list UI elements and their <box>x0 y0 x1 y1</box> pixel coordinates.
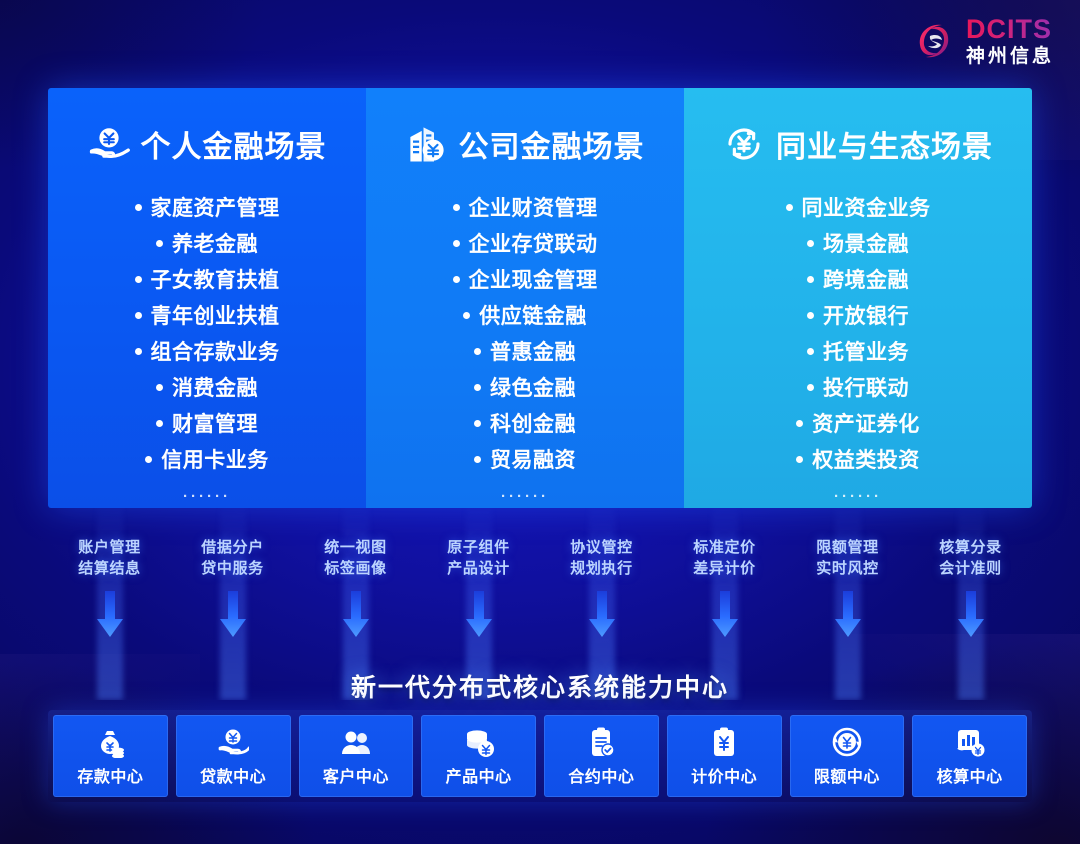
bullet-dot-icon <box>807 312 814 319</box>
bullet-dot-icon <box>807 276 814 283</box>
panel-list-item: 科创金融 <box>474 408 576 438</box>
panel-list-item: 托管业务 <box>807 336 909 366</box>
panel-list-item-label: 普惠金融 <box>490 336 576 366</box>
scenario-panels: 个人金融场景 家庭资产管理养老金融子女教育扶植青年创业扶植组合存款业务消费金融财… <box>48 88 1032 508</box>
panel-list-item-label: 养老金融 <box>172 228 258 258</box>
bullet-dot-icon <box>453 204 460 211</box>
capability-label-line2: 产品设计 <box>447 560 509 577</box>
capability-label-line2: 贷中服务 <box>201 560 263 577</box>
panel-list-item-label: 绿色金融 <box>490 372 576 402</box>
hand-coin-icon <box>217 726 249 758</box>
panel-ellipsis: ······ <box>183 488 231 505</box>
bullet-dot-icon <box>156 420 163 427</box>
capability-label-line2: 结算结息 <box>78 560 140 577</box>
capability-column: 限额管理 实时风控 <box>786 538 909 668</box>
capability-label-line2: 实时风控 <box>816 560 878 577</box>
bullet-dot-icon <box>474 384 481 391</box>
bullet-dot-icon <box>463 312 470 319</box>
bullet-dot-icon <box>807 240 814 247</box>
panel-list-item-label: 场景金融 <box>823 228 909 258</box>
center-card[interactable]: 限额中心 <box>790 715 905 797</box>
capability-label-line1: 核算分录 <box>939 539 1001 556</box>
center-card[interactable]: 合约中心 <box>544 715 659 797</box>
bullet-dot-icon <box>786 204 793 211</box>
center-card[interactable]: 核算中心 <box>912 715 1027 797</box>
panel-list-item: 消费金融 <box>156 372 258 402</box>
brand-logo: DCITS 神州信息 <box>912 16 1054 66</box>
panel-list-item: 绿色金融 <box>474 372 576 402</box>
panel-title: 公司金融场景 <box>459 122 645 166</box>
capability-column: 原子组件 产品设计 <box>417 538 540 668</box>
arrow-down-icon <box>95 591 125 639</box>
panel-list-item-label: 青年创业扶植 <box>151 300 280 330</box>
center-card[interactable]: 贷款中心 <box>176 715 291 797</box>
capability-label: 协议管控 规划执行 <box>570 538 632 579</box>
bullet-dot-icon <box>807 348 814 355</box>
capability-label-line1: 限额管理 <box>816 539 878 556</box>
panel-interbank-ecosystem[interactable]: 同业与生态场景 同业资金业务场景金融跨境金融开放银行托管业务投行联动资产证券化权… <box>684 88 1032 508</box>
dcits-swirl-icon <box>912 19 956 63</box>
panel-list-item: 开放银行 <box>807 300 909 330</box>
panel-list-item: 养老金融 <box>156 228 258 258</box>
panel-list-item-label: 企业现金管理 <box>469 264 598 294</box>
panel-item-list: 企业财资管理企业存贷联动企业现金管理供应链金融普惠金融绿色金融科创金融贸易融资 <box>453 192 598 474</box>
panel-list-item-label: 信用卡业务 <box>161 444 269 474</box>
yuan-exchange-circle-icon <box>723 123 765 165</box>
panel-item-list: 家庭资产管理养老金融子女教育扶植青年创业扶植组合存款业务消费金融财富管理信用卡业… <box>135 192 280 474</box>
center-card[interactable]: 客户中心 <box>299 715 414 797</box>
panel-list-item-label: 同业资金业务 <box>802 192 931 222</box>
capability-label-line2: 差异计价 <box>693 560 755 577</box>
center-card[interactable]: 计价中心 <box>667 715 782 797</box>
panel-list-item: 供应链金融 <box>463 300 587 330</box>
center-card-label: 合约中心 <box>568 763 634 787</box>
panel-header: 个人金融场景 <box>88 122 327 166</box>
capability-label: 限额管理 实时风控 <box>816 538 878 579</box>
bullet-dot-icon <box>145 456 152 463</box>
core-system-title: 新一代分布式核心系统能力中心 <box>0 668 1080 704</box>
building-yuan-icon <box>406 123 448 165</box>
panel-list-item-label: 投行联动 <box>823 372 909 402</box>
panel-list-item: 同业资金业务 <box>786 192 931 222</box>
clipboard-yuan-icon <box>708 726 740 758</box>
panel-list-item-label: 家庭资产管理 <box>151 192 280 222</box>
capability-label-line2: 规划执行 <box>570 560 632 577</box>
panel-list-item-label: 资产证券化 <box>812 408 920 438</box>
bullet-dot-icon <box>135 276 142 283</box>
capability-label: 原子组件 产品设计 <box>447 538 509 579</box>
capability-label-line1: 协议管控 <box>570 539 632 556</box>
bullet-dot-icon <box>796 456 803 463</box>
panel-list-item: 投行联动 <box>807 372 909 402</box>
center-card-label: 贷款中心 <box>200 763 266 787</box>
core-center-cards: 存款中心 贷款中心 客户中心 产品中心 合约中心 计价中心 限额中心 核算中心 <box>48 710 1032 802</box>
bullet-dot-icon <box>453 276 460 283</box>
panel-header: 公司金融场景 <box>406 122 645 166</box>
panel-list-item-label: 贸易融资 <box>490 444 576 474</box>
panel-list-item: 贸易融资 <box>474 444 576 474</box>
panel-list-item: 企业财资管理 <box>453 192 598 222</box>
panel-list-item: 青年创业扶植 <box>135 300 280 330</box>
panel-list-item-label: 子女教育扶植 <box>151 264 280 294</box>
panel-list-item-label: 开放银行 <box>823 300 909 330</box>
center-card-label: 客户中心 <box>323 763 389 787</box>
panel-corporate-finance[interactable]: 公司金融场景 企业财资管理企业存贷联动企业现金管理供应链金融普惠金融绿色金融科创… <box>366 88 684 508</box>
arrow-down-icon <box>710 591 740 639</box>
panel-list-item: 跨境金融 <box>807 264 909 294</box>
capability-label: 借据分户 贷中服务 <box>201 538 263 579</box>
panel-list-item-label: 科创金融 <box>490 408 576 438</box>
bullet-dot-icon <box>474 456 481 463</box>
capability-label-line1: 借据分户 <box>201 539 263 556</box>
panel-list-item-label: 供应链金融 <box>479 300 587 330</box>
panel-list-item: 信用卡业务 <box>145 444 269 474</box>
capability-column: 标准定价 差异计价 <box>663 538 786 668</box>
capability-column: 核算分录 会计准则 <box>909 538 1032 668</box>
center-card-label: 核算中心 <box>937 763 1003 787</box>
capability-label: 账户管理 结算结息 <box>78 538 140 579</box>
panel-list-item-label: 跨境金融 <box>823 264 909 294</box>
capability-row: 账户管理 结算结息 借据分户 贷中服务 统一视图 标签画像 原子组件 产品设计 … <box>48 538 1032 668</box>
panel-list-item: 企业现金管理 <box>453 264 598 294</box>
arrow-down-icon <box>464 591 494 639</box>
panel-list-item: 场景金融 <box>807 228 909 258</box>
center-card[interactable]: 产品中心 <box>421 715 536 797</box>
capability-label-line1: 原子组件 <box>447 539 509 556</box>
arrow-down-icon <box>218 591 248 639</box>
capability-label: 统一视图 标签画像 <box>324 538 386 579</box>
bullet-dot-icon <box>796 420 803 427</box>
panel-list-item: 子女教育扶植 <box>135 264 280 294</box>
capability-label-line2: 标签画像 <box>324 560 386 577</box>
arrow-down-icon <box>956 591 986 639</box>
bullet-dot-icon <box>135 312 142 319</box>
bullet-dot-icon <box>807 384 814 391</box>
bullet-dot-icon <box>453 240 460 247</box>
money-bag-coins-icon <box>94 726 126 758</box>
capability-label-line1: 统一视图 <box>324 539 386 556</box>
bullet-dot-icon <box>156 384 163 391</box>
arrow-down-icon <box>833 591 863 639</box>
capability-column: 借据分户 贷中服务 <box>171 538 294 668</box>
center-card-label: 限额中心 <box>814 763 880 787</box>
panel-title: 同业与生态场景 <box>776 122 993 166</box>
bullet-dot-icon <box>156 240 163 247</box>
panel-list-item-label: 组合存款业务 <box>151 336 280 366</box>
yuan-circle-arrows-icon <box>831 726 863 758</box>
panel-list-item-label: 权益类投资 <box>812 444 920 474</box>
panel-list-item: 资产证券化 <box>796 408 920 438</box>
clipboard-check-icon <box>585 726 617 758</box>
center-card-label: 存款中心 <box>77 763 143 787</box>
center-card-label: 产品中心 <box>446 763 512 787</box>
hand-holding-yuan-icon <box>88 123 130 165</box>
logo-text-cn: 神州信息 <box>966 47 1054 66</box>
logo-text-en: DCITS <box>966 16 1054 43</box>
panel-header: 同业与生态场景 <box>723 122 993 166</box>
users-group-icon <box>340 726 372 758</box>
panel-list-item: 企业存贷联动 <box>453 228 598 258</box>
capability-column: 协议管控 规划执行 <box>540 538 663 668</box>
panel-list-item: 组合存款业务 <box>135 336 280 366</box>
panel-list-item: 权益类投资 <box>796 444 920 474</box>
capability-label: 标准定价 差异计价 <box>693 538 755 579</box>
capability-label-line1: 标准定价 <box>693 539 755 556</box>
panel-list-item-label: 托管业务 <box>823 336 909 366</box>
panel-title: 个人金融场景 <box>141 122 327 166</box>
center-card[interactable]: 存款中心 <box>53 715 168 797</box>
panel-list-item-label: 消费金融 <box>172 372 258 402</box>
panel-personal-finance[interactable]: 个人金融场景 家庭资产管理养老金融子女教育扶植青年创业扶植组合存款业务消费金融财… <box>48 88 366 508</box>
panel-list-item-label: 财富管理 <box>172 408 258 438</box>
bullet-dot-icon <box>135 348 142 355</box>
panel-ellipsis: ······ <box>834 488 882 505</box>
bullet-dot-icon <box>474 348 481 355</box>
capability-label: 核算分录 会计准则 <box>939 538 1001 579</box>
arrow-down-icon <box>587 591 617 639</box>
panel-ellipsis: ······ <box>501 488 549 505</box>
panel-list-item-label: 企业财资管理 <box>469 192 598 222</box>
coin-stack-yuan-icon <box>463 726 495 758</box>
capability-column: 统一视图 标签画像 <box>294 538 417 668</box>
chart-report-yuan-icon <box>954 726 986 758</box>
arrow-down-icon <box>341 591 371 639</box>
capability-label-line1: 账户管理 <box>78 539 140 556</box>
center-card-label: 计价中心 <box>691 763 757 787</box>
panel-list-item: 普惠金融 <box>474 336 576 366</box>
bullet-dot-icon <box>135 204 142 211</box>
panel-list-item: 财富管理 <box>156 408 258 438</box>
panel-item-list: 同业资金业务场景金融跨境金融开放银行托管业务投行联动资产证券化权益类投资 <box>786 192 931 474</box>
panel-list-item-label: 企业存贷联动 <box>469 228 598 258</box>
bullet-dot-icon <box>474 420 481 427</box>
capability-label-line2: 会计准则 <box>939 560 1001 577</box>
capability-column: 账户管理 结算结息 <box>48 538 171 668</box>
panel-list-item: 家庭资产管理 <box>135 192 280 222</box>
